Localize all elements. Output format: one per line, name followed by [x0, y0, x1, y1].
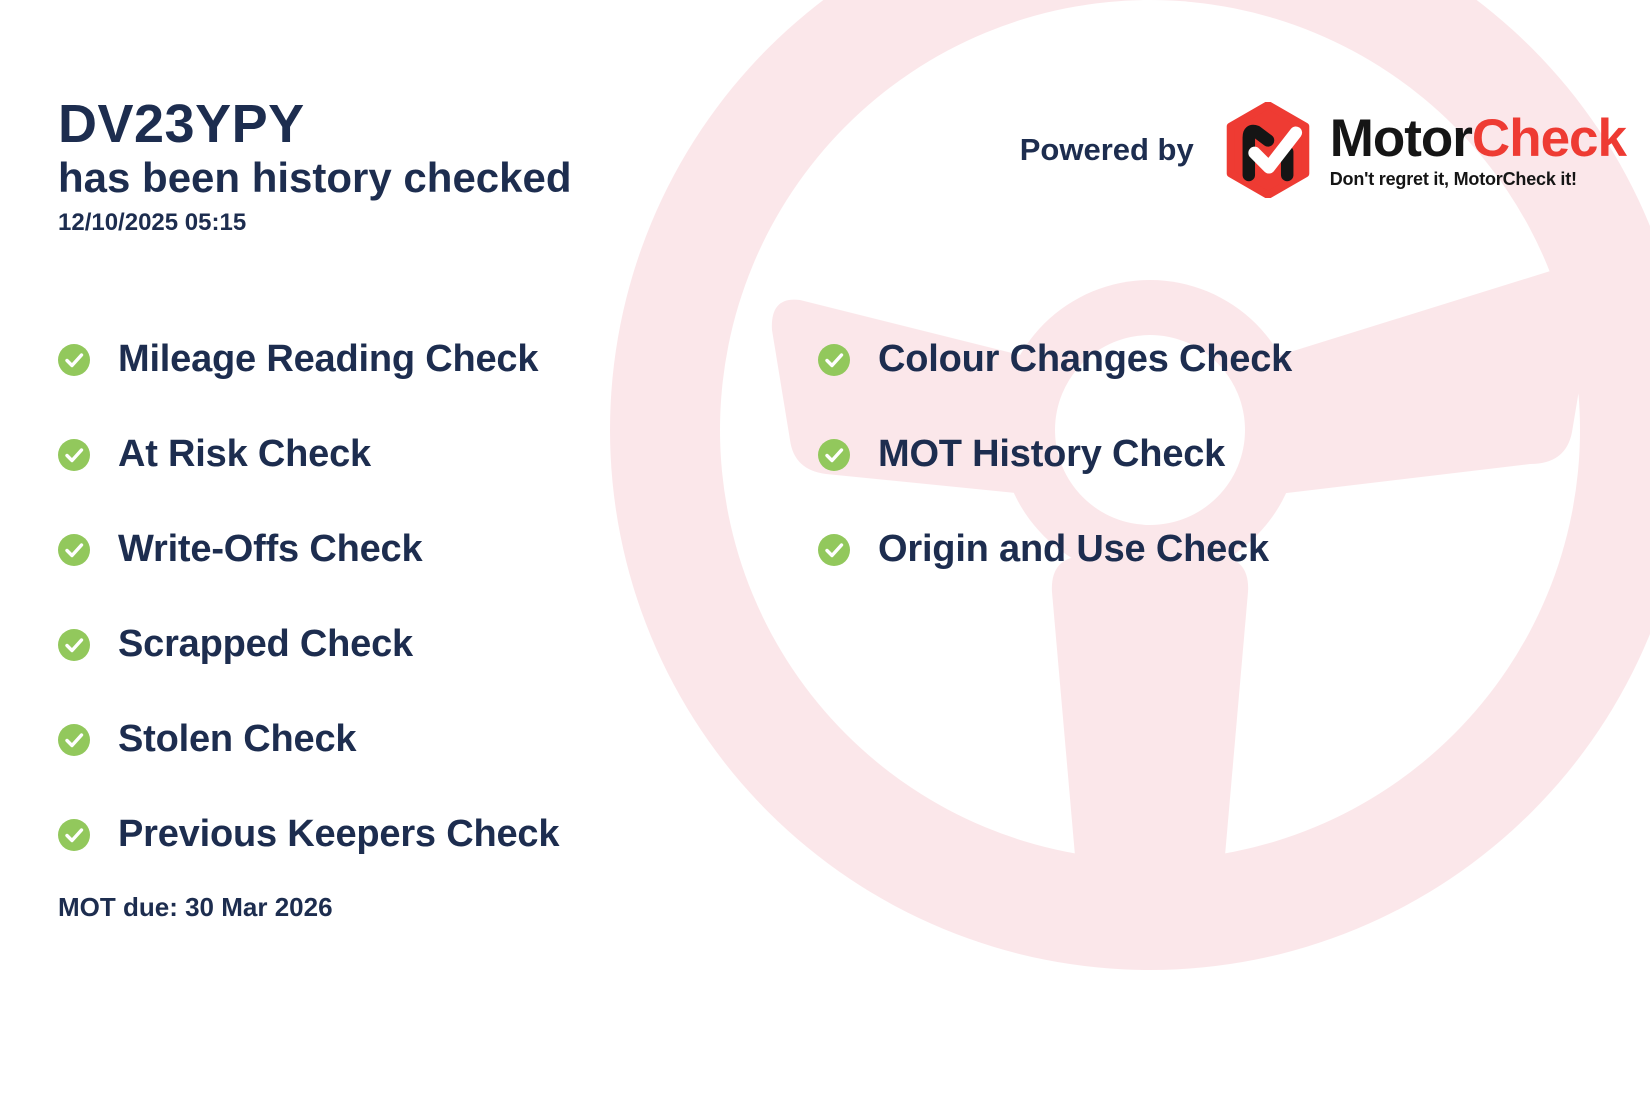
check-circle-icon — [818, 534, 850, 566]
check-label: Write-Offs Check — [118, 528, 422, 571]
checks-column-right: Colour Changes Check MOT History Check O… — [818, 312, 1518, 882]
check-label: Scrapped Check — [118, 623, 413, 666]
brand-tagline: Don't regret it, MotorCheck it! — [1330, 170, 1626, 188]
check-circle-icon — [58, 724, 90, 756]
check-item-previous-keepers: Previous Keepers Check — [58, 787, 818, 882]
motorcheck-logo[interactable]: MotorCheck Don't regret it, MotorCheck i… — [1220, 102, 1626, 198]
check-item-mot-history: MOT History Check — [818, 407, 1518, 502]
header-block: DV23YPY has been history checked 12/10/2… — [58, 96, 818, 238]
check-item-mileage-reading: Mileage Reading Check — [58, 312, 818, 407]
check-circle-icon — [58, 819, 90, 851]
check-label: Mileage Reading Check — [118, 338, 538, 381]
check-label: Stolen Check — [118, 718, 356, 761]
check-label: MOT History Check — [878, 433, 1225, 476]
check-item-origin-and-use: Origin and Use Check — [818, 502, 1518, 597]
powered-by-row: Powered by MotorCheck Don't regret it, M… — [1020, 102, 1626, 198]
check-circle-icon — [58, 439, 90, 471]
motorcheck-wordmark: MotorCheck — [1330, 112, 1626, 166]
checks-area: Mileage Reading Check At Risk Check Writ… — [58, 312, 1610, 882]
check-item-scrapped: Scrapped Check — [58, 597, 818, 692]
motorcheck-wordmark-block: MotorCheck Don't regret it, MotorCheck i… — [1330, 112, 1626, 188]
wordmark-check: Check — [1472, 109, 1626, 168]
check-label: Origin and Use Check — [878, 528, 1269, 571]
check-circle-icon — [58, 534, 90, 566]
page-title: has been history checked — [58, 154, 818, 201]
motorcheck-hexagon-icon — [1220, 102, 1316, 198]
check-circle-icon — [58, 344, 90, 376]
check-label: Colour Changes Check — [878, 338, 1292, 381]
check-item-at-risk: At Risk Check — [58, 407, 818, 502]
check-item-write-offs: Write-Offs Check — [58, 502, 818, 597]
check-timestamp: 12/10/2025 05:15 — [58, 209, 818, 238]
check-label: Previous Keepers Check — [118, 813, 559, 856]
mot-due-text: MOT due: 30 Mar 2026 — [58, 892, 333, 923]
check-item-colour-changes: Colour Changes Check — [818, 312, 1518, 407]
vehicle-history-check-card: DV23YPY has been history checked 12/10/2… — [0, 0, 1650, 1100]
check-circle-icon — [58, 629, 90, 661]
checks-column-left: Mileage Reading Check At Risk Check Writ… — [58, 312, 818, 882]
powered-by-label: Powered by — [1020, 132, 1194, 168]
check-item-stolen: Stolen Check — [58, 692, 818, 787]
wordmark-motor: Motor — [1330, 109, 1472, 168]
registration-plate: DV23YPY — [58, 96, 818, 152]
check-circle-icon — [818, 344, 850, 376]
check-label: At Risk Check — [118, 433, 371, 476]
check-circle-icon — [818, 439, 850, 471]
